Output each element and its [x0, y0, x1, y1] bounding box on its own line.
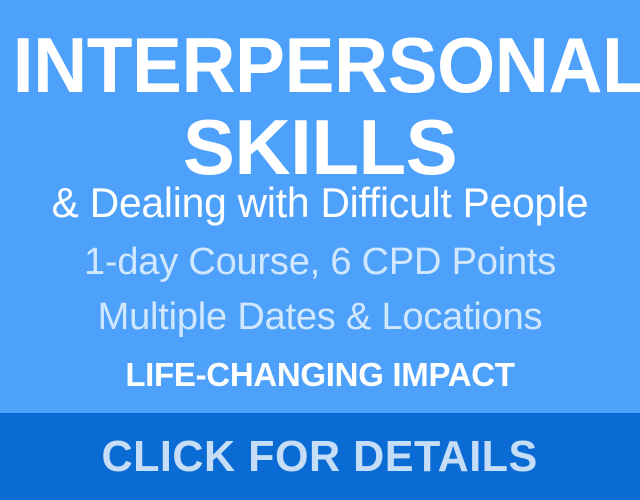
headline-line-1: INTERPERSONAL — [13, 26, 627, 104]
detail-line-dates-locations: Multiple Dates & Locations — [0, 298, 640, 336]
cta-button-label: CLICK FOR DETAILS — [102, 435, 538, 479]
headline-block: INTERPERSONAL SKILLS & Dealing with Diff… — [0, 0, 640, 413]
advertisement-banner[interactable]: INTERPERSONAL SKILLS & Dealing with Diff… — [0, 0, 640, 500]
cta-button[interactable]: CLICK FOR DETAILS — [0, 413, 640, 500]
detail-line-course-info: 1-day Course, 6 CPD Points — [0, 243, 640, 281]
tagline: LIFE-CHANGING IMPACT — [0, 358, 640, 391]
headline-line-2: SKILLS — [0, 108, 640, 186]
subheadline: & Dealing with Difficult People — [10, 182, 631, 224]
